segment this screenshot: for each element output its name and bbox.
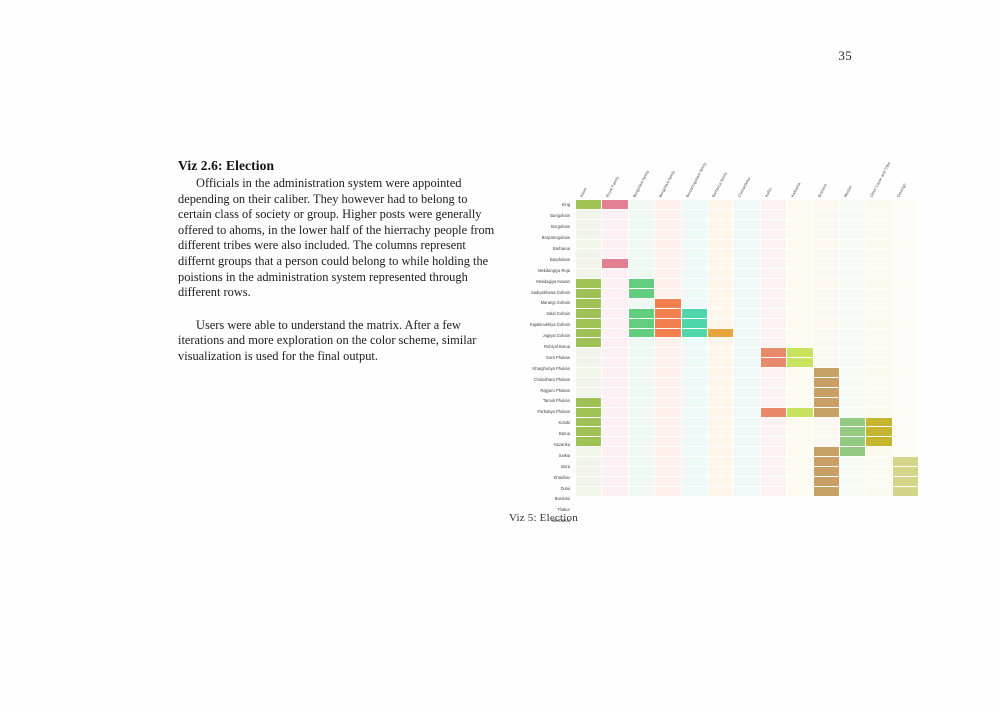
matrix-cell[interactable] <box>734 487 759 496</box>
matrix-cell[interactable] <box>629 289 654 298</box>
matrix-cell[interactable] <box>840 299 865 308</box>
matrix-cell[interactable] <box>708 230 733 239</box>
matrix-cell[interactable] <box>682 249 707 258</box>
matrix-cell[interactable] <box>708 220 733 229</box>
matrix-cell[interactable] <box>602 210 627 219</box>
matrix-cell[interactable] <box>840 220 865 229</box>
matrix-cell[interactable] <box>787 338 812 347</box>
matrix-cell[interactable] <box>866 289 891 298</box>
matrix-cell[interactable] <box>866 457 891 466</box>
matrix-cell[interactable] <box>576 269 601 278</box>
matrix-cell[interactable] <box>602 240 627 249</box>
matrix-cell[interactable] <box>734 240 759 249</box>
matrix-cell[interactable] <box>814 299 839 308</box>
matrix-cell[interactable] <box>814 358 839 367</box>
matrix-cell[interactable] <box>761 299 786 308</box>
matrix-cell[interactable] <box>814 240 839 249</box>
matrix-cell[interactable] <box>708 398 733 407</box>
matrix-cell[interactable] <box>893 200 918 209</box>
matrix-cell[interactable] <box>893 319 918 328</box>
matrix-cell[interactable] <box>602 338 627 347</box>
matrix-cell[interactable] <box>814 368 839 377</box>
matrix-cell[interactable] <box>708 358 733 367</box>
matrix-cell[interactable] <box>893 240 918 249</box>
matrix-cell[interactable] <box>708 408 733 417</box>
matrix-cell[interactable] <box>814 220 839 229</box>
matrix-cell[interactable] <box>655 388 680 397</box>
matrix-cell[interactable] <box>866 319 891 328</box>
matrix-cell[interactable] <box>893 418 918 427</box>
matrix-cell[interactable] <box>840 240 865 249</box>
matrix-cell[interactable] <box>814 388 839 397</box>
matrix-cell[interactable] <box>866 259 891 268</box>
matrix-cell[interactable] <box>893 299 918 308</box>
matrix-cell[interactable] <box>629 418 654 427</box>
matrix-cell[interactable] <box>602 398 627 407</box>
matrix-cell[interactable] <box>840 358 865 367</box>
matrix-cell[interactable] <box>655 309 680 318</box>
matrix-cell[interactable] <box>734 210 759 219</box>
matrix-cell[interactable] <box>602 249 627 258</box>
matrix-cell[interactable] <box>576 200 601 209</box>
matrix-cell[interactable] <box>893 289 918 298</box>
matrix-cell[interactable] <box>629 358 654 367</box>
matrix-cell[interactable] <box>814 329 839 338</box>
matrix-cell[interactable] <box>734 398 759 407</box>
matrix-cell[interactable] <box>840 249 865 258</box>
matrix-cell[interactable] <box>866 398 891 407</box>
matrix-cell[interactable] <box>866 329 891 338</box>
matrix-cell[interactable] <box>708 210 733 219</box>
matrix-cell[interactable] <box>866 408 891 417</box>
matrix-cell[interactable] <box>814 279 839 288</box>
matrix-cell[interactable] <box>682 210 707 219</box>
matrix-cell[interactable] <box>840 338 865 347</box>
matrix-cell[interactable] <box>761 467 786 476</box>
matrix-cell[interactable] <box>734 319 759 328</box>
matrix-cell[interactable] <box>576 368 601 377</box>
matrix-cell[interactable] <box>761 348 786 357</box>
matrix-cell[interactable] <box>866 368 891 377</box>
matrix-cell[interactable] <box>734 220 759 229</box>
matrix-cell[interactable] <box>576 259 601 268</box>
matrix-cell[interactable] <box>866 348 891 357</box>
matrix-cell[interactable] <box>893 230 918 239</box>
matrix-cell[interactable] <box>708 289 733 298</box>
matrix-cell[interactable] <box>787 249 812 258</box>
matrix-cell[interactable] <box>814 447 839 456</box>
matrix-cell[interactable] <box>682 368 707 377</box>
matrix-cell[interactable] <box>734 269 759 278</box>
matrix-cell[interactable] <box>708 447 733 456</box>
matrix-cell[interactable] <box>893 269 918 278</box>
matrix-cell[interactable] <box>761 309 786 318</box>
matrix-cell[interactable] <box>761 329 786 338</box>
matrix-cell[interactable] <box>655 200 680 209</box>
matrix-cell[interactable] <box>629 210 654 219</box>
matrix-cell[interactable] <box>629 299 654 308</box>
matrix-cell[interactable] <box>602 457 627 466</box>
matrix-cell[interactable] <box>893 398 918 407</box>
matrix-cell[interactable] <box>787 457 812 466</box>
matrix-cell[interactable] <box>893 220 918 229</box>
matrix-cell[interactable] <box>893 279 918 288</box>
matrix-cell[interactable] <box>866 477 891 486</box>
matrix-cell[interactable] <box>576 477 601 486</box>
matrix-cell[interactable] <box>655 269 680 278</box>
matrix-cell[interactable] <box>787 348 812 357</box>
matrix-cell[interactable] <box>602 279 627 288</box>
matrix-cell[interactable] <box>629 319 654 328</box>
matrix-cell[interactable] <box>761 200 786 209</box>
matrix-cell[interactable] <box>866 200 891 209</box>
matrix-cell[interactable] <box>840 329 865 338</box>
matrix-cell[interactable] <box>576 220 601 229</box>
matrix-cell[interactable] <box>787 358 812 367</box>
matrix-cell[interactable] <box>682 329 707 338</box>
matrix-cell[interactable] <box>840 230 865 239</box>
matrix-cell[interactable] <box>602 368 627 377</box>
matrix-cell[interactable] <box>787 230 812 239</box>
matrix-cell[interactable] <box>734 388 759 397</box>
matrix-cell[interactable] <box>814 309 839 318</box>
matrix-cell[interactable] <box>840 378 865 387</box>
matrix-cell[interactable] <box>655 467 680 476</box>
matrix-cell[interactable] <box>576 427 601 436</box>
matrix-cell[interactable] <box>734 418 759 427</box>
matrix-cell[interactable] <box>629 408 654 417</box>
matrix-cell[interactable] <box>708 437 733 446</box>
matrix-cell[interactable] <box>682 240 707 249</box>
matrix-cell[interactable] <box>602 299 627 308</box>
matrix-cell[interactable] <box>708 319 733 328</box>
matrix-cell[interactable] <box>655 329 680 338</box>
matrix-cell[interactable] <box>893 457 918 466</box>
matrix-cell[interactable] <box>814 230 839 239</box>
matrix-cell[interactable] <box>787 418 812 427</box>
matrix-cell[interactable] <box>655 447 680 456</box>
matrix-cell[interactable] <box>734 467 759 476</box>
matrix-cell[interactable] <box>682 447 707 456</box>
matrix-cell[interactable] <box>682 408 707 417</box>
matrix-cell[interactable] <box>866 220 891 229</box>
matrix-cell[interactable] <box>787 319 812 328</box>
matrix-cell[interactable] <box>787 279 812 288</box>
matrix-cell[interactable] <box>893 477 918 486</box>
matrix-cell[interactable] <box>708 249 733 258</box>
matrix-cell[interactable] <box>682 338 707 347</box>
matrix-cell[interactable] <box>787 329 812 338</box>
matrix-cell[interactable] <box>629 348 654 357</box>
matrix-cell[interactable] <box>708 477 733 486</box>
matrix-cell[interactable] <box>576 299 601 308</box>
matrix-cell[interactable] <box>602 427 627 436</box>
matrix-cell[interactable] <box>708 457 733 466</box>
matrix-cell[interactable] <box>893 210 918 219</box>
matrix-cell[interactable] <box>682 437 707 446</box>
matrix-cell[interactable] <box>787 200 812 209</box>
matrix-cell[interactable] <box>840 210 865 219</box>
matrix-cell[interactable] <box>629 220 654 229</box>
matrix-cell[interactable] <box>814 269 839 278</box>
matrix-cell[interactable] <box>814 319 839 328</box>
matrix-cell[interactable] <box>787 487 812 496</box>
matrix-cell[interactable] <box>761 269 786 278</box>
matrix-cell[interactable] <box>840 200 865 209</box>
matrix-cell[interactable] <box>734 358 759 367</box>
matrix-cell[interactable] <box>734 378 759 387</box>
matrix-cell[interactable] <box>840 259 865 268</box>
matrix-cell[interactable] <box>893 249 918 258</box>
matrix-cell[interactable] <box>576 487 601 496</box>
matrix-cell[interactable] <box>682 220 707 229</box>
matrix-cell[interactable] <box>629 437 654 446</box>
matrix-cell[interactable] <box>866 378 891 387</box>
matrix-cell[interactable] <box>787 378 812 387</box>
matrix-cell[interactable] <box>761 418 786 427</box>
matrix-cell[interactable] <box>655 279 680 288</box>
matrix-cell[interactable] <box>682 348 707 357</box>
matrix-cell[interactable] <box>840 319 865 328</box>
matrix-cell[interactable] <box>866 240 891 249</box>
matrix-cell[interactable] <box>576 447 601 456</box>
matrix-cell[interactable] <box>761 279 786 288</box>
matrix-cell[interactable] <box>893 467 918 476</box>
matrix-cell[interactable] <box>655 338 680 347</box>
matrix-cell[interactable] <box>708 299 733 308</box>
matrix-cell[interactable] <box>734 279 759 288</box>
matrix-cell[interactable] <box>761 447 786 456</box>
matrix-cell[interactable] <box>682 279 707 288</box>
matrix-cell[interactable] <box>682 319 707 328</box>
matrix-cell[interactable] <box>734 329 759 338</box>
matrix-cell[interactable] <box>840 477 865 486</box>
matrix-cell[interactable] <box>682 487 707 496</box>
matrix-cell[interactable] <box>787 309 812 318</box>
matrix-cell[interactable] <box>576 437 601 446</box>
matrix-cell[interactable] <box>708 309 733 318</box>
matrix-cell[interactable] <box>576 230 601 239</box>
matrix-cell[interactable] <box>893 309 918 318</box>
matrix-cell[interactable] <box>576 210 601 219</box>
matrix-cell[interactable] <box>866 467 891 476</box>
matrix-cell[interactable] <box>761 358 786 367</box>
matrix-cell[interactable] <box>708 427 733 436</box>
matrix-cell[interactable] <box>734 230 759 239</box>
matrix-cell[interactable] <box>602 378 627 387</box>
matrix-cell[interactable] <box>734 299 759 308</box>
matrix-cell[interactable] <box>893 388 918 397</box>
matrix-cell[interactable] <box>682 427 707 436</box>
matrix-cell[interactable] <box>629 249 654 258</box>
matrix-cell[interactable] <box>629 240 654 249</box>
matrix-cell[interactable] <box>682 398 707 407</box>
matrix-cell[interactable] <box>655 230 680 239</box>
matrix-cell[interactable] <box>629 447 654 456</box>
matrix-cell[interactable] <box>893 427 918 436</box>
matrix-cell[interactable] <box>576 279 601 288</box>
matrix-cell[interactable] <box>576 457 601 466</box>
matrix-cell[interactable] <box>655 418 680 427</box>
matrix-cell[interactable] <box>682 299 707 308</box>
matrix-cell[interactable] <box>761 398 786 407</box>
matrix-cell[interactable] <box>576 467 601 476</box>
matrix-cell[interactable] <box>787 269 812 278</box>
matrix-cell[interactable] <box>787 398 812 407</box>
matrix-cell[interactable] <box>761 230 786 239</box>
matrix-cell[interactable] <box>602 309 627 318</box>
matrix-cell[interactable] <box>576 358 601 367</box>
matrix-cell[interactable] <box>629 457 654 466</box>
matrix-cell[interactable] <box>629 259 654 268</box>
matrix-cell[interactable] <box>708 378 733 387</box>
matrix-cell[interactable] <box>655 240 680 249</box>
matrix-cell[interactable] <box>761 249 786 258</box>
matrix-cell[interactable] <box>840 427 865 436</box>
matrix-cell[interactable] <box>787 299 812 308</box>
matrix-cell[interactable] <box>602 477 627 486</box>
matrix-cell[interactable] <box>576 388 601 397</box>
matrix-cell[interactable] <box>734 289 759 298</box>
matrix-cell[interactable] <box>761 240 786 249</box>
matrix-cell[interactable] <box>814 437 839 446</box>
matrix-cell[interactable] <box>655 477 680 486</box>
matrix-cell[interactable] <box>602 467 627 476</box>
matrix-cell[interactable] <box>655 408 680 417</box>
matrix-cell[interactable] <box>734 348 759 357</box>
matrix-cell[interactable] <box>761 487 786 496</box>
matrix-cell[interactable] <box>840 368 865 377</box>
matrix-cell[interactable] <box>734 457 759 466</box>
matrix-cell[interactable] <box>655 437 680 446</box>
matrix-cell[interactable] <box>682 269 707 278</box>
matrix-cell[interactable] <box>602 447 627 456</box>
matrix-cell[interactable] <box>629 487 654 496</box>
matrix-cell[interactable] <box>734 338 759 347</box>
matrix-cell[interactable] <box>840 437 865 446</box>
matrix-cell[interactable] <box>655 457 680 466</box>
matrix-cell[interactable] <box>655 319 680 328</box>
matrix-cell[interactable] <box>576 378 601 387</box>
matrix-cell[interactable] <box>761 259 786 268</box>
matrix-cell[interactable] <box>814 487 839 496</box>
matrix-cell[interactable] <box>655 358 680 367</box>
matrix-cell[interactable] <box>840 289 865 298</box>
matrix-cell[interactable] <box>866 437 891 446</box>
matrix-cell[interactable] <box>576 309 601 318</box>
matrix-cell[interactable] <box>682 230 707 239</box>
matrix-cell[interactable] <box>734 447 759 456</box>
matrix-cell[interactable] <box>629 279 654 288</box>
matrix-cell[interactable] <box>814 200 839 209</box>
matrix-cell[interactable] <box>814 348 839 357</box>
matrix-cell[interactable] <box>682 289 707 298</box>
matrix-cell[interactable] <box>866 338 891 347</box>
matrix-cell[interactable] <box>814 378 839 387</box>
matrix-cell[interactable] <box>576 408 601 417</box>
matrix-cell[interactable] <box>761 457 786 466</box>
matrix-cell[interactable] <box>866 249 891 258</box>
matrix-cell[interactable] <box>866 427 891 436</box>
matrix-cell[interactable] <box>655 210 680 219</box>
matrix-cell[interactable] <box>655 289 680 298</box>
matrix-cell[interactable] <box>629 378 654 387</box>
matrix-cell[interactable] <box>602 329 627 338</box>
matrix-cell[interactable] <box>893 447 918 456</box>
matrix-cell[interactable] <box>814 457 839 466</box>
matrix-cell[interactable] <box>787 408 812 417</box>
matrix-cell[interactable] <box>682 309 707 318</box>
matrix-cell[interactable] <box>814 418 839 427</box>
matrix-cell[interactable] <box>602 487 627 496</box>
matrix-cell[interactable] <box>840 418 865 427</box>
matrix-cell[interactable] <box>576 249 601 258</box>
matrix-cell[interactable] <box>602 388 627 397</box>
matrix-cell[interactable] <box>734 249 759 258</box>
matrix-cell[interactable] <box>866 447 891 456</box>
matrix-cell[interactable] <box>682 378 707 387</box>
matrix-cell[interactable] <box>814 210 839 219</box>
matrix-cell[interactable] <box>576 240 601 249</box>
matrix-cell[interactable] <box>787 447 812 456</box>
matrix-cell[interactable] <box>734 408 759 417</box>
matrix-cell[interactable] <box>602 220 627 229</box>
matrix-cell[interactable] <box>787 210 812 219</box>
matrix-cell[interactable] <box>655 299 680 308</box>
matrix-cell[interactable] <box>840 487 865 496</box>
matrix-cell[interactable] <box>708 348 733 357</box>
matrix-cell[interactable] <box>629 329 654 338</box>
matrix-cell[interactable] <box>655 378 680 387</box>
matrix-cell[interactable] <box>840 269 865 278</box>
matrix-cell[interactable] <box>734 309 759 318</box>
matrix-cell[interactable] <box>840 457 865 466</box>
matrix-cell[interactable] <box>682 388 707 397</box>
matrix-cell[interactable] <box>682 477 707 486</box>
matrix-cell[interactable] <box>866 210 891 219</box>
matrix-cell[interactable] <box>629 467 654 476</box>
matrix-cell[interactable] <box>629 269 654 278</box>
matrix-cell[interactable] <box>866 269 891 278</box>
matrix-cell[interactable] <box>814 398 839 407</box>
matrix-cell[interactable] <box>840 388 865 397</box>
matrix-cell[interactable] <box>761 437 786 446</box>
matrix-cell[interactable] <box>629 338 654 347</box>
matrix-cell[interactable] <box>787 289 812 298</box>
matrix-cell[interactable] <box>708 329 733 338</box>
matrix-cell[interactable] <box>629 427 654 436</box>
matrix-cell[interactable] <box>893 358 918 367</box>
matrix-cell[interactable] <box>814 249 839 258</box>
matrix-cell[interactable] <box>655 249 680 258</box>
matrix-cell[interactable] <box>814 408 839 417</box>
matrix-cell[interactable] <box>761 319 786 328</box>
matrix-cell[interactable] <box>576 418 601 427</box>
matrix-cell[interactable] <box>761 378 786 387</box>
matrix-cell[interactable] <box>893 487 918 496</box>
matrix-cell[interactable] <box>893 437 918 446</box>
matrix-cell[interactable] <box>602 230 627 239</box>
matrix-cell[interactable] <box>866 309 891 318</box>
matrix-cell[interactable] <box>682 457 707 466</box>
matrix-cell[interactable] <box>787 220 812 229</box>
matrix-cell[interactable] <box>629 398 654 407</box>
matrix-cell[interactable] <box>602 418 627 427</box>
matrix-cell[interactable] <box>787 388 812 397</box>
matrix-cell[interactable] <box>734 259 759 268</box>
matrix-cell[interactable] <box>893 408 918 417</box>
matrix-cell[interactable] <box>629 309 654 318</box>
